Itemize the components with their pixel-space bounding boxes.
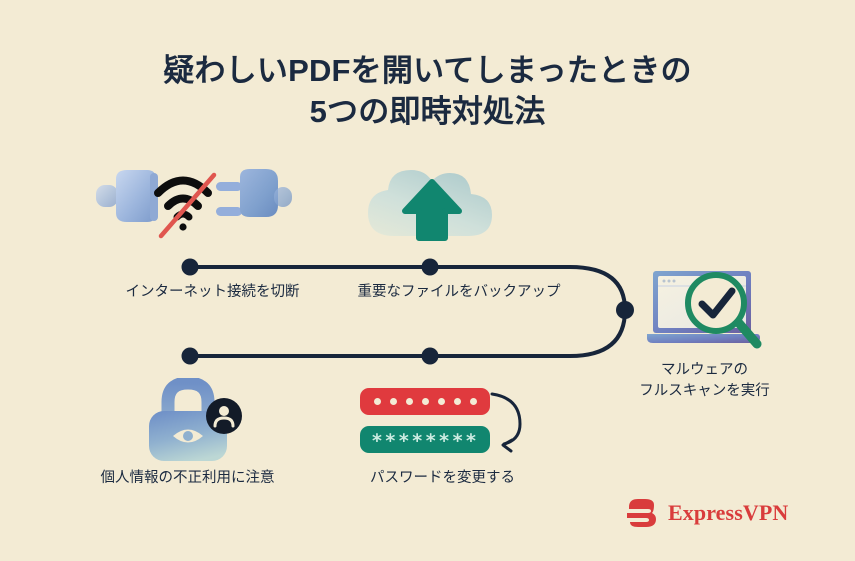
infographic-canvas: 疑わしいPDFを開いてしまったときの 5つの即時対処法 xyxy=(0,0,855,561)
expressvpn-wordmark: ExpressVPN xyxy=(668,500,788,526)
step-label-disconnect-internet: インターネット接続を切断 xyxy=(95,282,330,303)
laptop-window-dots xyxy=(663,280,676,283)
magnifier-lens xyxy=(688,275,744,331)
left-plug-shape xyxy=(96,170,158,222)
right-plug-shape xyxy=(216,169,292,217)
person-head-icon xyxy=(219,406,229,416)
eye-keyhole-pupil xyxy=(183,431,193,441)
page-title-line-1: 疑わしいPDFを開いてしまったときの xyxy=(0,50,855,91)
unplugged-wifi-icon xyxy=(88,155,298,250)
expressvpn-logo[interactable]: ExpressVPN xyxy=(625,496,788,530)
step-label-watch-identity-theft: 個人情報の不正利用に注意 xyxy=(80,468,295,489)
step-label-backup-files: 重要なファイルをバックアップ xyxy=(330,282,588,303)
laptop-base xyxy=(647,334,760,343)
timeline-node-1 xyxy=(182,259,199,276)
timeline-path xyxy=(190,267,625,356)
padlock-eye-person-icon xyxy=(143,378,248,463)
new-password-field: ******** xyxy=(360,426,490,453)
timeline-node-3 xyxy=(616,301,634,319)
password-change-arrow-icon xyxy=(486,386,536,458)
step-label-change-password: パスワードを変更する xyxy=(340,468,545,489)
timeline-node-5 xyxy=(182,348,199,365)
step-label-malware-scan: マルウェアの フルスキャンを実行 xyxy=(617,360,792,402)
cloud-upload-icon xyxy=(358,148,506,248)
old-password-field xyxy=(360,388,490,415)
password-fields-icon: ******** xyxy=(360,388,520,460)
new-password-mask: ******** xyxy=(371,432,479,451)
old-password-mask xyxy=(374,398,477,405)
page-title: 疑わしいPDFを開いてしまったときの 5つの即時対処法 xyxy=(0,50,855,132)
laptop-magnifier-check-icon xyxy=(645,268,765,350)
timeline-node-4 xyxy=(422,348,439,365)
page-title-line-2: 5つの即時対処法 xyxy=(0,91,855,132)
expressvpn-e-mark-icon xyxy=(625,496,659,530)
timeline-node-2 xyxy=(422,259,439,276)
